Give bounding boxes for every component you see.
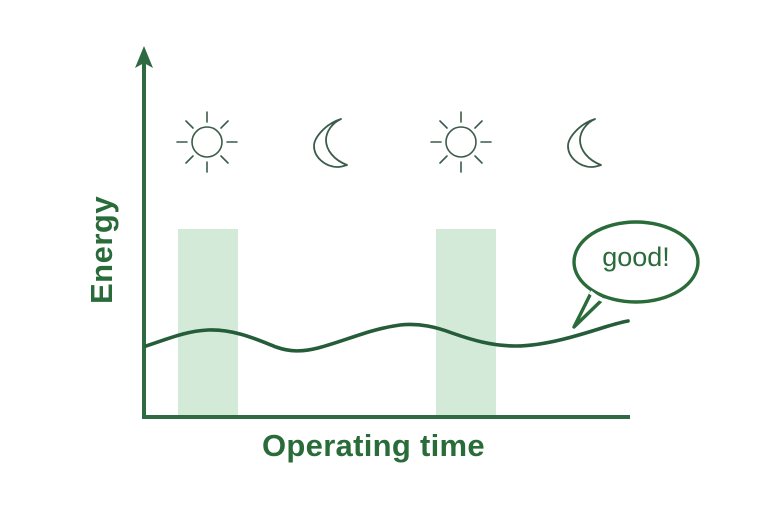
energy-operating-time-diagram: Energy Operating time good! bbox=[0, 0, 780, 520]
moon-icon bbox=[568, 119, 601, 167]
sun-icon bbox=[177, 112, 237, 172]
moon-icon bbox=[314, 119, 347, 167]
y-axis bbox=[135, 46, 153, 418]
daylight-band-2 bbox=[436, 229, 496, 417]
sun-icon bbox=[431, 112, 491, 172]
daylight-band-1 bbox=[178, 229, 238, 417]
speech-bubble-tail bbox=[574, 291, 605, 327]
x-axis-label: Operating time bbox=[262, 428, 485, 464]
speech-bubble-label: good! bbox=[588, 242, 684, 273]
y-axis-label: Energy bbox=[84, 196, 120, 304]
speech-bubble bbox=[574, 222, 698, 327]
